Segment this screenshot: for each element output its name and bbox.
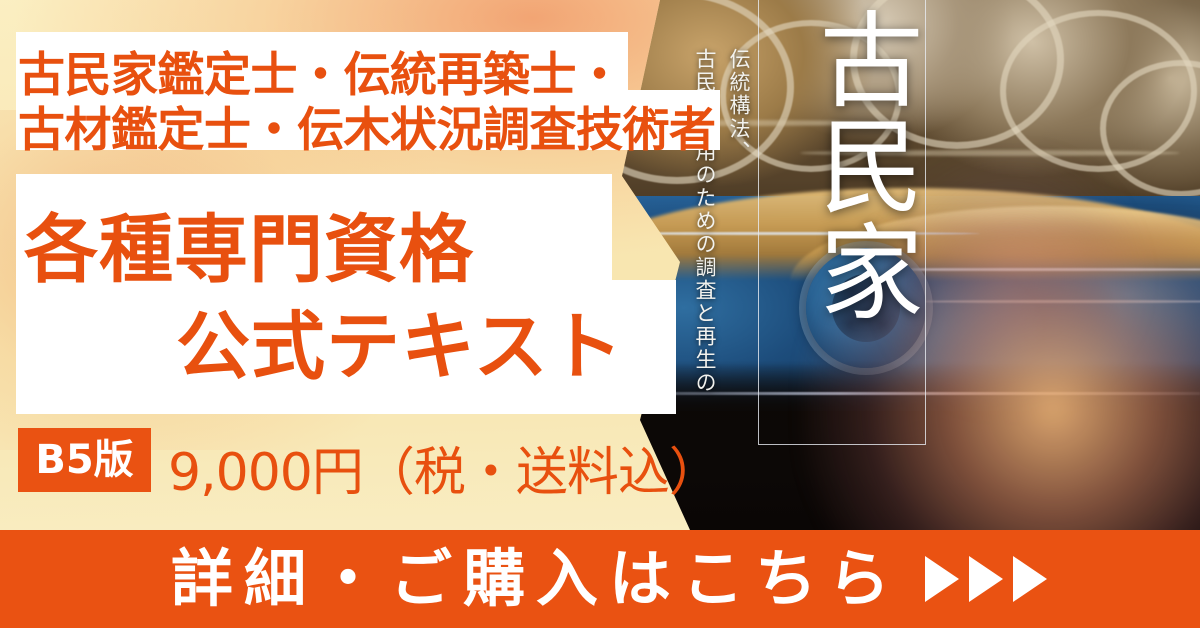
promo-banner: 古民家 伝統構法、 古民家活用のための調査と再生の 古民家鑑定士・伝統再築士・ … [0, 0, 1200, 628]
headline-main-line2: 公式テキスト [176, 287, 624, 394]
cta-arrows [925, 556, 1047, 602]
triangle-right-icon [969, 556, 1003, 602]
triangle-right-icon [1013, 556, 1047, 602]
headline-main-line1: 各種専門資格 [24, 190, 474, 297]
format-badge: B5版 [18, 428, 151, 492]
format-badge-label: B5版 [35, 440, 133, 480]
triangle-right-icon [925, 556, 959, 602]
cta-button[interactable]: 詳細・ご購入はこちら [0, 530, 1200, 628]
cover-title: 古民家 [758, 6, 926, 324]
cta-label: 詳細・ご購入はこちら [171, 548, 901, 610]
headline-top-line2: 古材鑑定士・伝木状況調査技術者 [18, 91, 716, 160]
price-label: 9,000円（税・送料込） [168, 430, 720, 505]
